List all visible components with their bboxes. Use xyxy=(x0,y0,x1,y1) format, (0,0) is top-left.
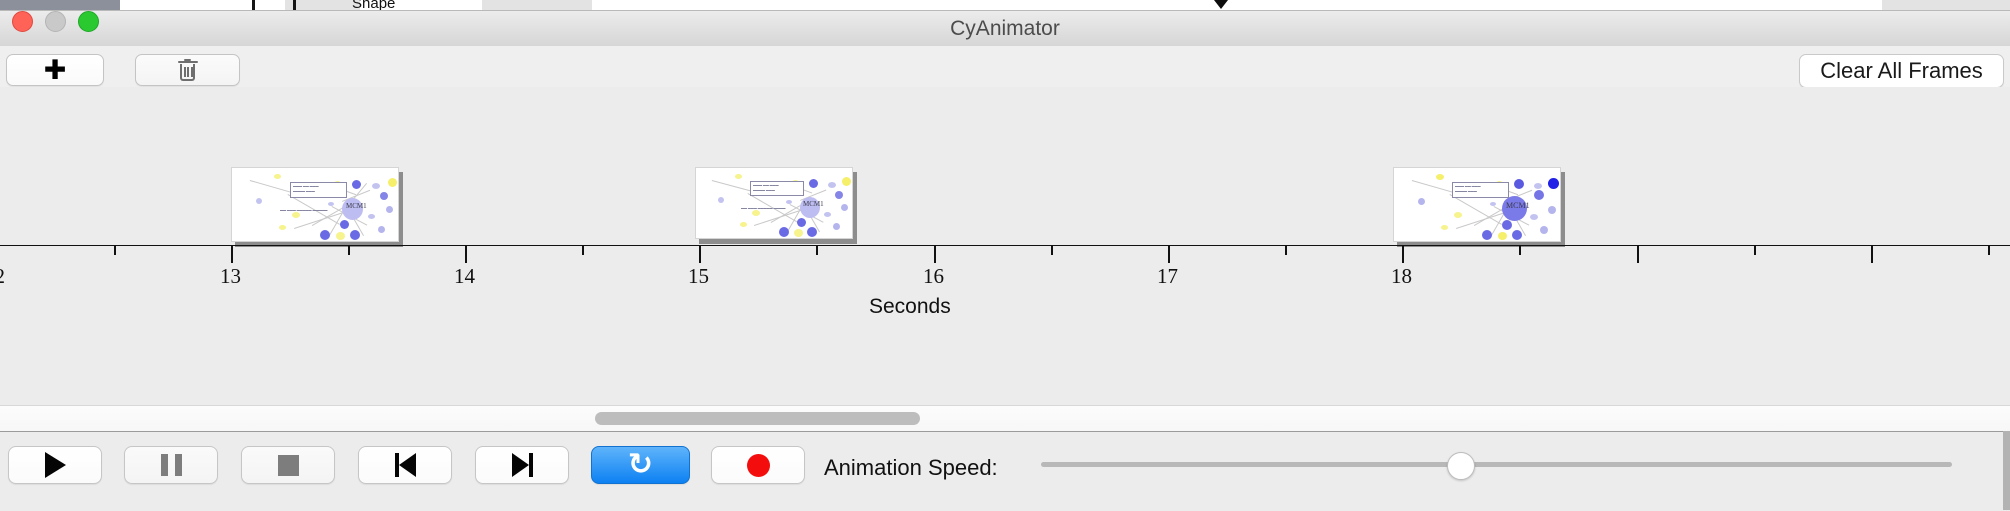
add-frame-button[interactable]: ✚ xyxy=(6,54,104,86)
major-tick xyxy=(231,246,233,263)
record-button[interactable] xyxy=(711,446,805,484)
minor-tick xyxy=(114,246,116,255)
delete-frame-button[interactable] xyxy=(135,54,240,86)
record-icon xyxy=(747,454,770,477)
zoom-button[interactable] xyxy=(78,11,99,32)
minor-tick xyxy=(1285,246,1287,255)
loop-icon: ↻ xyxy=(628,450,653,480)
minor-tick xyxy=(1051,246,1053,255)
timeline-ruler xyxy=(0,245,2010,246)
stop-icon xyxy=(278,455,299,476)
timeline-tick-label: 13 xyxy=(220,264,241,289)
play-icon xyxy=(45,452,66,478)
pause-icon xyxy=(161,454,182,476)
timeline-tick-label: 16 xyxy=(923,264,944,289)
title-bar: CyAnimator xyxy=(0,11,2010,47)
network-thumbnail: ▬▬▬ ▬▬ ▬▬▬ ▬▬▬▬ ▬▬▬ MCM1 xyxy=(1393,167,1561,242)
network-thumbnail: ▬▬▬ ▬▬ ▬▬▬ ▬▬▬▬ ▬▬▬ ▬▬ ▬▬▬ ▬▬▬▬▬ ▬▬▬▬▬ M… xyxy=(231,167,399,242)
loop-button[interactable]: ↻ xyxy=(591,446,690,484)
trash-icon xyxy=(178,59,198,82)
cyanimator-window: Shape CyAnimator ✚ Clear All Frames xyxy=(0,0,2010,510)
major-tick xyxy=(699,246,701,263)
frame-thumbnail-1[interactable]: ▬▬▬ ▬▬ ▬▬▬ ▬▬▬▬ ▬▬▬ ▬▬ ▬▬▬ ▬▬▬▬▬ ▬▬▬▬▬ M… xyxy=(231,167,399,242)
stop-button[interactable] xyxy=(241,446,335,484)
animation-speed-slider-thumb[interactable] xyxy=(1447,452,1475,480)
bg-arrow-icon xyxy=(1214,0,1228,9)
animation-speed-label: Animation Speed: xyxy=(824,455,998,481)
minor-tick xyxy=(582,246,584,255)
timeline-axis-title: Seconds xyxy=(869,295,951,319)
toolbar: ✚ Clear All Frames xyxy=(0,46,2010,88)
minor-tick xyxy=(816,246,818,255)
minor-tick xyxy=(348,246,350,255)
timeline-tick-label: 15 xyxy=(688,264,709,289)
network-thumbnail: ▬▬▬ ▬▬ ▬▬▬ ▬▬▬▬ ▬▬▬ ▬▬ ▬▬▬ ▬▬▬▬▬ ▬▬▬▬ MC… xyxy=(695,167,853,239)
hub-node-label: MCM1 xyxy=(346,202,367,210)
timeline-scrollbar[interactable] xyxy=(0,405,2010,432)
frame-thumbnail-3[interactable]: ▬▬▬ ▬▬ ▬▬▬ ▬▬▬▬ ▬▬▬ MCM1 xyxy=(1393,167,1561,242)
animation-speed-slider[interactable] xyxy=(1041,462,1952,467)
playback-control-bar: ↻ Animation Speed: xyxy=(0,431,2010,511)
timeline-tick-label: 18 xyxy=(1391,264,1412,289)
background-window-strip: Shape xyxy=(0,0,2010,11)
skip-to-start-icon xyxy=(395,453,416,477)
pause-button[interactable] xyxy=(124,446,218,484)
timeline-tick-label: 14 xyxy=(454,264,475,289)
major-tick xyxy=(1168,246,1170,263)
skip-to-start-button[interactable] xyxy=(358,446,452,484)
major-tick xyxy=(1871,246,1873,263)
hub-node-label: MCM1 xyxy=(1506,201,1530,210)
frame-thumbnail-2[interactable]: ▬▬▬ ▬▬ ▬▬▬ ▬▬▬▬ ▬▬▬ ▬▬ ▬▬▬ ▬▬▬▬▬ ▬▬▬▬ MC… xyxy=(695,167,853,239)
clear-all-frames-label: Clear All Frames xyxy=(1820,58,1983,84)
minor-tick xyxy=(1754,246,1756,255)
minor-tick xyxy=(1988,246,1990,255)
major-tick xyxy=(934,246,936,263)
window-title: CyAnimator xyxy=(0,11,2010,46)
minor-tick xyxy=(1519,246,1521,255)
clear-all-frames-button[interactable]: Clear All Frames xyxy=(1799,54,2004,88)
major-tick xyxy=(465,246,467,263)
minimize-button[interactable] xyxy=(45,11,66,32)
major-tick xyxy=(1402,246,1404,263)
timeline-tick-label: 2 xyxy=(0,264,5,289)
timeline-panel[interactable]: ▬▬▬ ▬▬ ▬▬▬ ▬▬▬▬ ▬▬▬ ▬▬ ▬▬▬ ▬▬▬▬▬ ▬▬▬▬▬ M… xyxy=(0,87,2010,405)
timeline-scrollbar-thumb[interactable] xyxy=(595,412,920,425)
major-tick xyxy=(1637,246,1639,263)
timeline-tick-label: 17 xyxy=(1157,264,1178,289)
skip-to-end-button[interactable] xyxy=(475,446,569,484)
hub-node-label: MCM1 xyxy=(803,200,824,208)
traffic-lights xyxy=(12,11,99,32)
skip-to-end-icon xyxy=(512,453,533,477)
plus-icon: ✚ xyxy=(44,57,67,84)
close-button[interactable] xyxy=(12,11,33,32)
vertical-scrollbar[interactable] xyxy=(2003,431,2010,510)
play-button[interactable] xyxy=(8,446,102,484)
